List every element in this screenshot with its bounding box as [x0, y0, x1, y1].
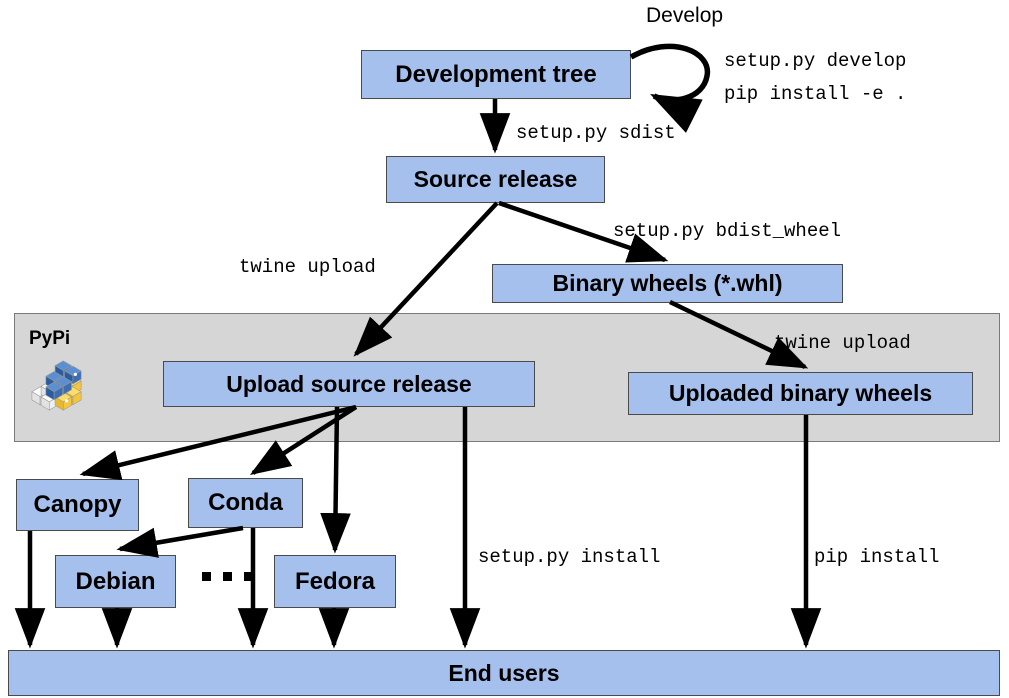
edge-binary-to-uploaded-wheels	[670, 302, 805, 367]
edge-upload-source-to-conda	[253, 407, 356, 473]
edge-source-to-binary-wheels	[499, 203, 665, 260]
diagram-edges	[0, 0, 1009, 698]
edge-develop-self-loop	[631, 46, 707, 100]
edge-upload-source-to-fedora	[335, 407, 337, 550]
diagram-canvas: PyPi	[0, 0, 1009, 698]
edge-upload-source-to-canopy	[83, 407, 356, 474]
edge-source-to-upload-source	[356, 203, 497, 354]
edge-conda-to-debian	[120, 528, 243, 549]
